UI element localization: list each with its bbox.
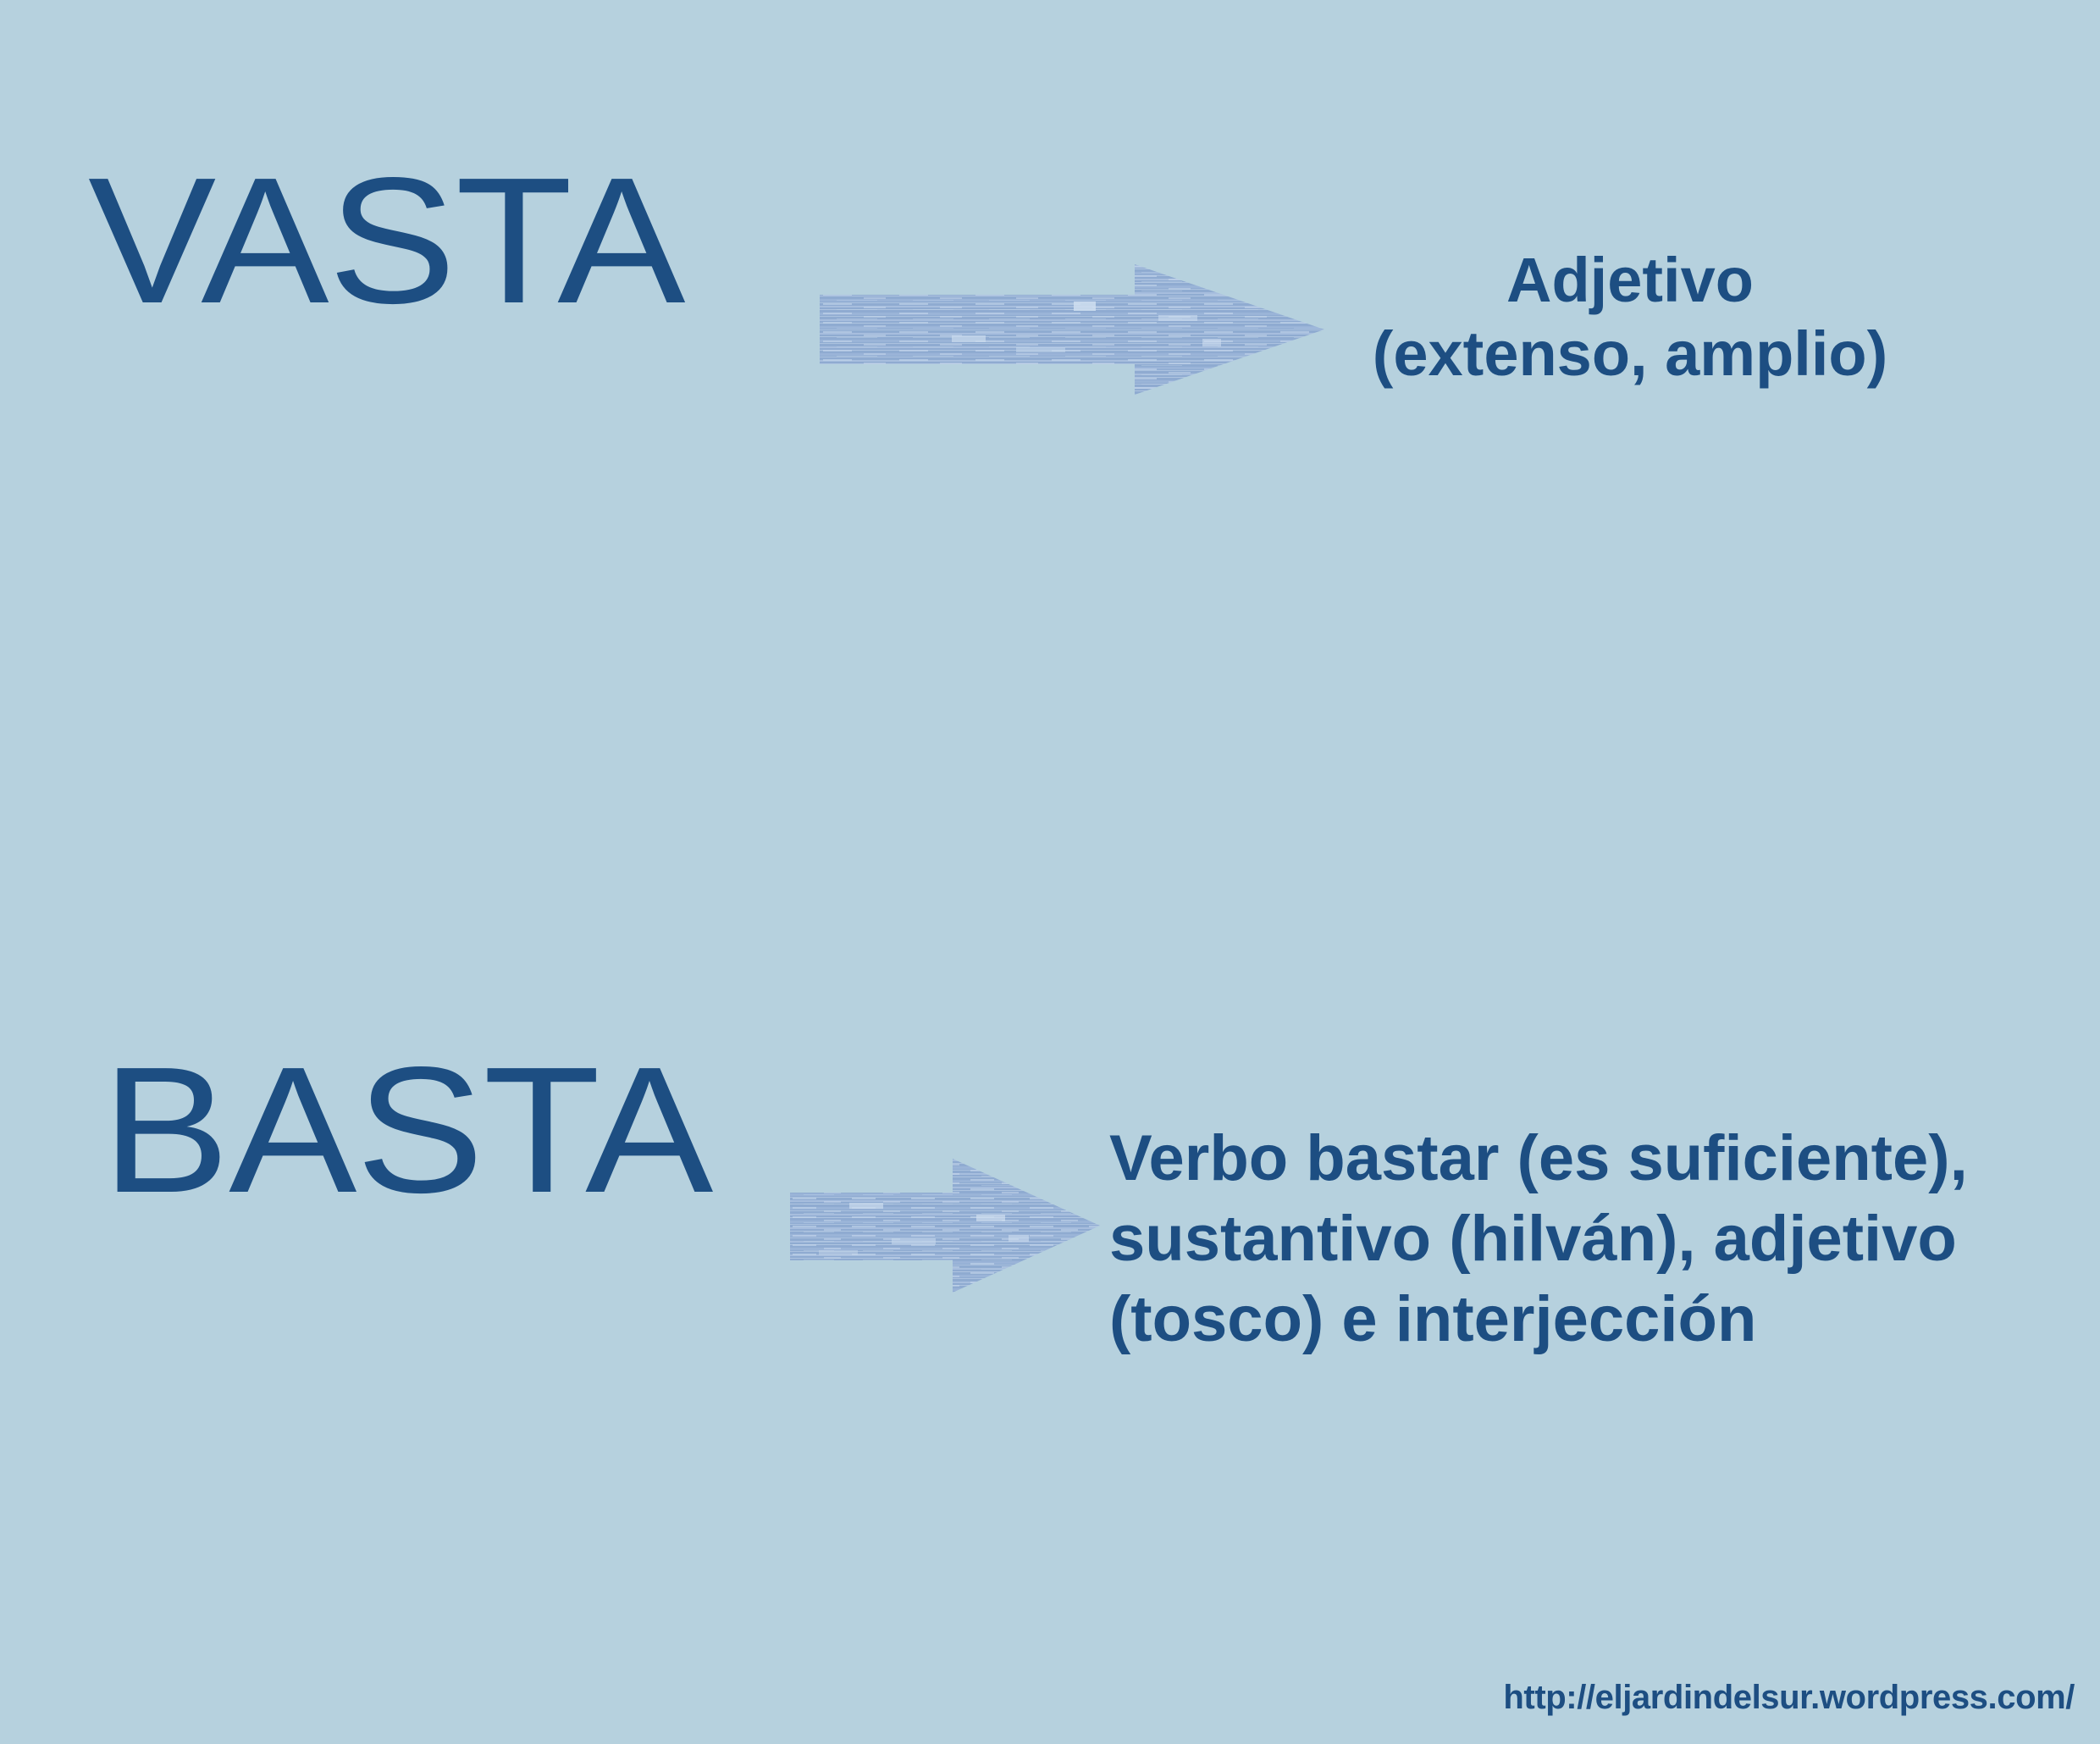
definition-basta-line-3: (tosco) e interjección: [1109, 1279, 2092, 1359]
right-arrow-icon: [790, 1159, 1100, 1293]
definition-vasta: Adjetivo (extenso, amplio): [1211, 244, 2049, 390]
definition-basta: Verbo bastar (es suficiente), sustantivo…: [1109, 1118, 2092, 1359]
slide-canvas: VASTA: [0, 0, 2100, 1744]
definition-vasta-line-1: Adjetivo: [1211, 244, 2049, 318]
definition-basta-line-1: Verbo bastar (es suficiente),: [1109, 1118, 2092, 1199]
headword-vasta: VASTA: [88, 151, 684, 330]
headword-basta: BASTA: [102, 1040, 712, 1220]
source-url[interactable]: http://eljardindelsur.wordpress.com/: [1503, 1679, 2075, 1717]
definition-basta-line-2: sustantivo (hilván), adjetivo: [1109, 1199, 2092, 1279]
definition-vasta-line-2: (extenso, amplio): [1211, 318, 2049, 391]
